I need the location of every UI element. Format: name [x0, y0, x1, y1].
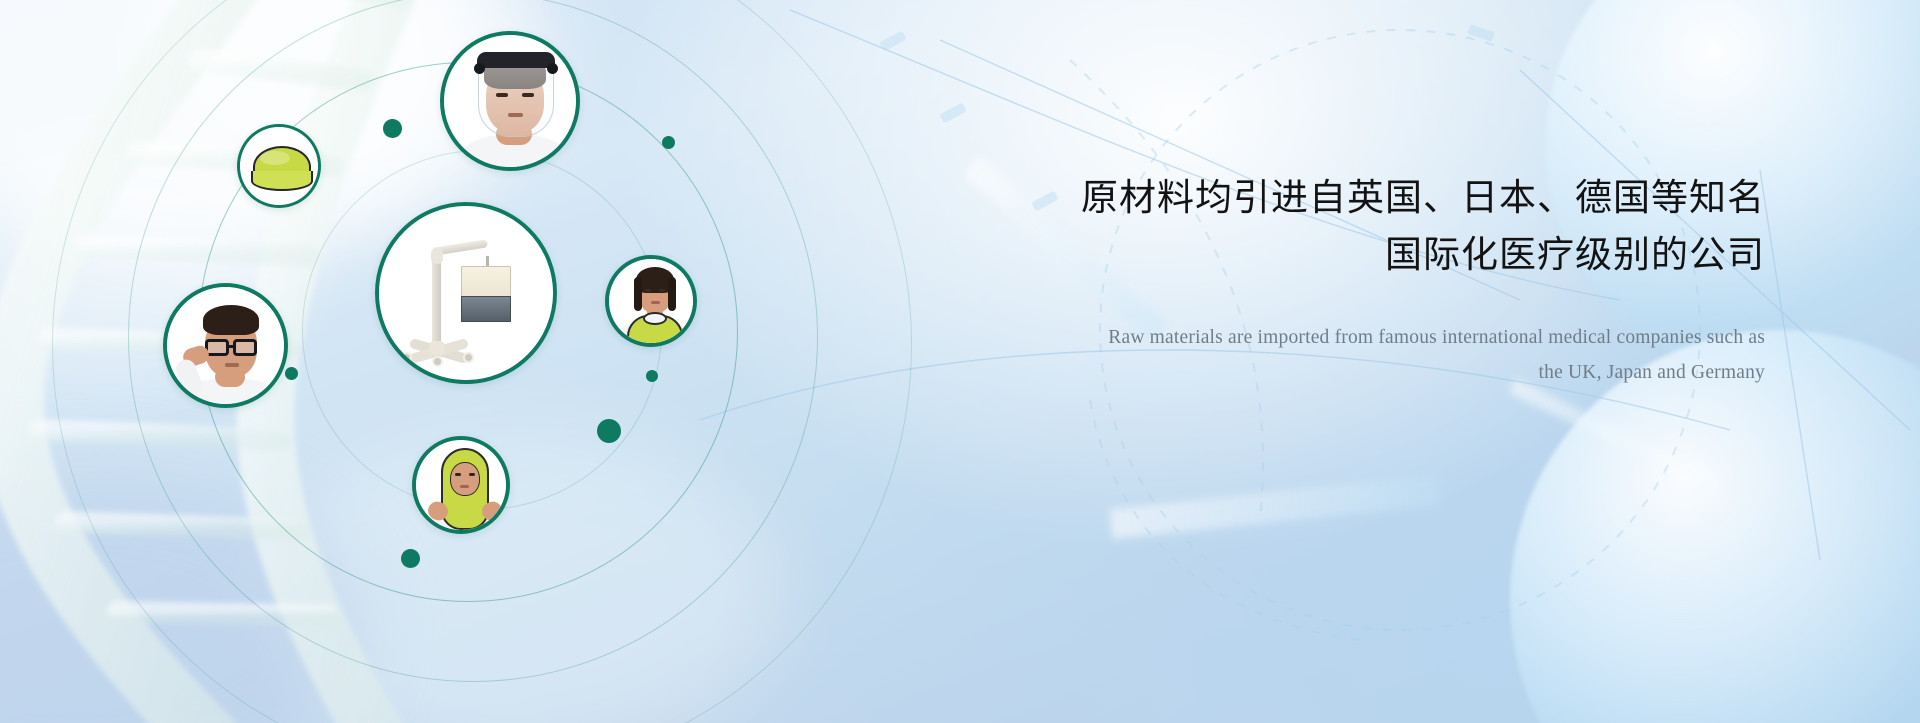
product-orbit-collage	[0, 0, 960, 723]
hero-text-block: 原材料均引进自英国、日本、德国等知名 国际化医疗级别的公司 Raw materi…	[1025, 172, 1765, 390]
accent-dot	[383, 119, 402, 138]
man-with-face-shield-image	[444, 35, 576, 167]
accent-dot	[401, 549, 420, 568]
accent-dot	[662, 136, 675, 149]
man-with-lead-glasses-image	[167, 287, 284, 404]
accent-dot	[597, 419, 621, 443]
node-man-with-face-shield[interactable]	[440, 31, 580, 171]
node-mobile-lead-screen[interactable]	[375, 202, 557, 384]
headline-line-1: 原材料均引进自英国、日本、德国等知名	[1025, 172, 1765, 225]
node-man-with-lead-glasses[interactable]	[163, 283, 288, 408]
accent-dot	[285, 367, 298, 380]
hero-banner: 原材料均引进自英国、日本、德国等知名 国际化医疗级别的公司 Raw materi…	[0, 0, 1920, 723]
woman-thyroid-collar-image	[609, 259, 693, 343]
subtitle-block: Raw materials are imported from famous i…	[1025, 321, 1765, 390]
woman-lead-hood-image	[416, 440, 506, 530]
mobile-lead-screen-image	[379, 206, 553, 380]
node-woman-thyroid-collar[interactable]	[605, 255, 697, 347]
green-lead-cap-image	[240, 127, 318, 205]
node-woman-lead-hood[interactable]	[412, 436, 510, 534]
subtitle-line-2: the UK, Japan and Germany	[1025, 356, 1765, 391]
headline-line-2: 国际化医疗级别的公司	[1025, 229, 1765, 282]
node-green-lead-cap[interactable]	[237, 124, 321, 208]
subtitle-line-1: Raw materials are imported from famous i…	[1025, 321, 1765, 356]
accent-dot	[646, 370, 658, 382]
